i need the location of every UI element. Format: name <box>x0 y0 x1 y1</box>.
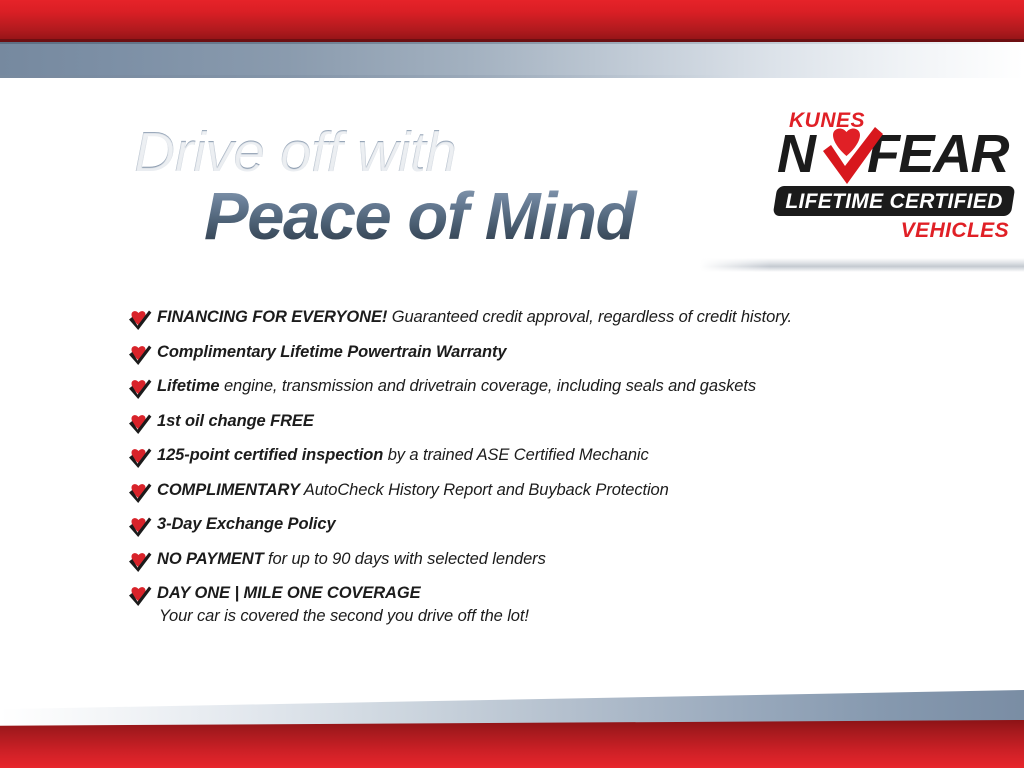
benefit-lead: Lifetime <box>157 377 219 395</box>
benefit-rest: engine, transmission and drivetrain cove… <box>219 377 756 395</box>
heart-check-bullet-icon <box>128 585 152 607</box>
top-slate-stripe <box>0 42 1024 78</box>
heart-check-bullet-icon <box>128 447 152 469</box>
headline: Drive off with Peace of Mind <box>134 124 754 250</box>
benefit-rest: AutoCheck History Report and Buyback Pro… <box>300 481 669 499</box>
benefit-rest: Guaranteed credit approval, regardless o… <box>387 308 792 326</box>
benefit-item: 3-Day Exchange Policy <box>128 514 928 538</box>
benefit-text: 3-Day Exchange Policy <box>157 514 336 534</box>
bottom-decorative-band <box>0 690 1024 768</box>
benefit-lead: Complimentary Lifetime Powertrain Warran… <box>157 343 506 361</box>
heart-check-bullet-icon <box>128 344 152 366</box>
logo-no-fear-wordmark: N FEAR <box>775 127 1013 183</box>
benefit-lead: 3-Day Exchange Policy <box>157 515 336 533</box>
benefit-lead: DAY ONE | MILE ONE COVERAGE <box>157 584 421 602</box>
benefit-rest: by a trained ASE Certified Mechanic <box>383 446 648 464</box>
benefit-text: 1st oil change FREE <box>157 411 314 431</box>
logo-lifetime-certified-text: LIFETIME CERTIFIED <box>775 186 1013 216</box>
benefit-lead: NO PAYMENT <box>157 550 264 568</box>
headline-line-1: Drive off with <box>134 124 754 181</box>
headline-divider <box>700 258 1024 272</box>
benefit-text: Complimentary Lifetime Powertrain Warran… <box>157 342 506 362</box>
heart-check-bullet-icon <box>128 551 152 573</box>
benefits-list: FINANCING FOR EVERYONE! Guaranteed credi… <box>128 307 928 637</box>
benefit-lead: 125-point certified inspection <box>157 446 383 464</box>
benefit-lead: COMPLIMENTARY <box>157 481 300 499</box>
heart-check-bullet-icon <box>128 413 152 435</box>
benefit-item: 1st oil change FREE <box>128 411 928 435</box>
benefit-item: FINANCING FOR EVERYONE! Guaranteed credi… <box>128 307 928 331</box>
benefit-item: 125-point certified inspection by a trai… <box>128 445 928 469</box>
bottom-red-stripe <box>0 720 1024 768</box>
kunes-no-fear-logo: KUNES N FEAR LIFETIME CERTIFIED VEHICLES <box>775 110 1013 245</box>
benefit-item: Complimentary Lifetime Powertrain Warran… <box>128 342 928 366</box>
benefit-rest: for up to 90 days with selected lenders <box>264 550 546 568</box>
heart-check-bullet-icon <box>128 378 152 400</box>
benefit-text: DAY ONE | MILE ONE COVERAGE Your car is … <box>157 583 529 626</box>
benefit-text: NO PAYMENT for up to 90 days with select… <box>157 549 546 569</box>
heart-check-bullet-icon <box>128 516 152 538</box>
logo-letter-n: N <box>777 127 815 181</box>
heart-check-icon <box>813 125 889 191</box>
heart-check-bullet-icon <box>128 482 152 504</box>
benefit-subtext: Your car is covered the second you drive… <box>159 606 529 626</box>
heart-check-bullet-icon <box>128 309 152 331</box>
benefit-lead: FINANCING FOR EVERYONE! <box>157 308 387 326</box>
benefit-text: COMPLIMENTARY AutoCheck History Report a… <box>157 480 669 500</box>
top-decorative-band <box>0 0 1024 80</box>
logo-vehicles-text: VEHICLES <box>901 220 1009 241</box>
benefit-text: Lifetime engine, transmission and drivet… <box>157 376 756 396</box>
top-red-stripe <box>0 0 1024 42</box>
benefit-item: NO PAYMENT for up to 90 days with select… <box>128 549 928 573</box>
benefit-lead: 1st oil change FREE <box>157 412 314 430</box>
benefit-text: 125-point certified inspection by a trai… <box>157 445 649 465</box>
benefit-text: FINANCING FOR EVERYONE! Guaranteed credi… <box>157 307 792 327</box>
headline-line-2: Peace of Mind <box>204 183 754 250</box>
benefit-item: Lifetime engine, transmission and drivet… <box>128 376 928 400</box>
benefit-item: COMPLIMENTARY AutoCheck History Report a… <box>128 480 928 504</box>
benefit-item: DAY ONE | MILE ONE COVERAGE Your car is … <box>128 583 928 626</box>
